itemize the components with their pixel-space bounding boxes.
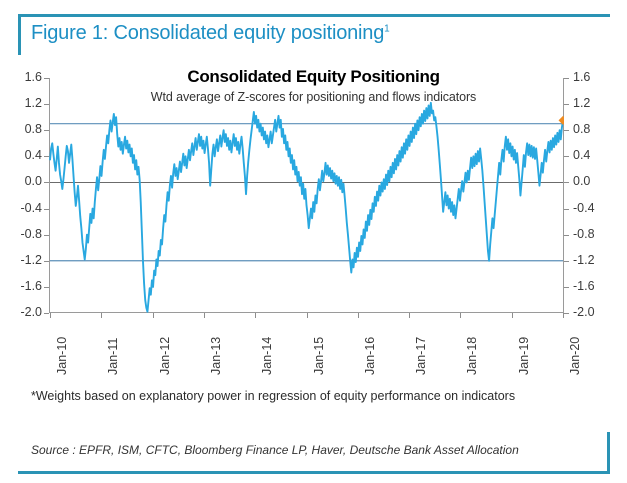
- x-tick-label: Jan-19: [517, 337, 531, 375]
- figure-title-superscript: 1: [384, 23, 389, 34]
- y-tick-mark: [44, 104, 49, 105]
- y-tick-mark: [44, 235, 49, 236]
- y-tick-mark: [564, 261, 569, 262]
- x-tick-label: Jan-17: [414, 337, 428, 375]
- panel-right-accent-bar: [607, 432, 610, 471]
- y-tick-mark: [564, 313, 569, 314]
- y-tick-mark: [44, 313, 49, 314]
- y-tick-mark: [564, 78, 569, 79]
- y-tick-label-left: -1.6: [8, 280, 42, 293]
- y-tick-label-left: -2.0: [8, 306, 42, 319]
- x-tick-label: Jan-13: [209, 337, 223, 375]
- x-tick-label: Jan-10: [55, 337, 69, 375]
- x-tick-mark: [101, 313, 102, 318]
- plot-area: [49, 78, 564, 313]
- y-tick-mark: [564, 287, 569, 288]
- y-tick-mark: [564, 130, 569, 131]
- x-tick-label: Jan-20: [568, 337, 582, 375]
- x-tick-mark: [460, 313, 461, 318]
- y-tick-label-left: 1.2: [8, 97, 42, 110]
- y-tick-mark: [564, 209, 569, 210]
- x-tick-mark: [358, 313, 359, 318]
- figure-panel: Figure 1: Consolidated equity positionin…: [0, 0, 627, 483]
- x-tick-mark: [563, 313, 564, 318]
- x-tick-label: Jan-14: [260, 337, 274, 375]
- panel-left-accent-bar: [18, 17, 21, 55]
- y-tick-label-right: 1.6: [573, 71, 590, 84]
- y-tick-label-right: 0.4: [573, 149, 590, 162]
- series-canvas: [49, 78, 564, 313]
- x-tick-mark: [255, 313, 256, 318]
- x-tick-mark: [409, 313, 410, 318]
- panel-bottom-rule: [18, 471, 610, 474]
- x-tick-label: Jan-16: [363, 337, 377, 375]
- x-tick-label: Jan-15: [312, 337, 326, 375]
- y-tick-label-right: -1.6: [573, 280, 595, 293]
- y-tick-label-left: -0.8: [8, 228, 42, 241]
- x-tick-mark: [512, 313, 513, 318]
- y-tick-label-right: -2.0: [573, 306, 595, 319]
- x-tick-mark: [50, 313, 51, 318]
- y-tick-label-left: -0.4: [8, 202, 42, 215]
- y-tick-mark: [44, 130, 49, 131]
- x-tick-label: Jan-18: [465, 337, 479, 375]
- y-tick-label-left: -1.2: [8, 254, 42, 267]
- y-tick-label-right: -1.2: [573, 254, 595, 267]
- y-tick-label-right: 1.2: [573, 97, 590, 110]
- footnote-text: *Weights based on explanatory power in r…: [31, 389, 515, 403]
- y-tick-mark: [564, 104, 569, 105]
- y-tick-label-left: 0.4: [8, 149, 42, 162]
- y-tick-mark: [44, 156, 49, 157]
- y-tick-label-right: 0.0: [573, 175, 590, 188]
- x-tick-mark: [153, 313, 154, 318]
- x-tick-label: Jan-12: [158, 337, 172, 375]
- y-tick-mark: [44, 182, 49, 183]
- figure-title-text: Figure 1: Consolidated equity positionin…: [31, 22, 384, 44]
- y-tick-mark: [564, 182, 569, 183]
- y-tick-label-left: 0.8: [8, 123, 42, 136]
- y-tick-label-right: 0.8: [573, 123, 590, 136]
- series-line: [50, 103, 563, 312]
- x-tick-label: Jan-11: [106, 338, 120, 375]
- y-tick-label-left: 0.0: [8, 175, 42, 188]
- x-tick-mark: [204, 313, 205, 318]
- y-tick-label-right: -0.4: [573, 202, 595, 215]
- figure-title: Figure 1: Consolidated equity positionin…: [31, 22, 390, 45]
- y-tick-mark: [564, 156, 569, 157]
- y-tick-mark: [564, 235, 569, 236]
- y-tick-label-left: 1.6: [8, 71, 42, 84]
- panel-top-rule: [18, 14, 610, 17]
- y-tick-mark: [44, 78, 49, 79]
- y-tick-mark: [44, 261, 49, 262]
- y-tick-mark: [44, 209, 49, 210]
- x-tick-mark: [307, 313, 308, 318]
- y-tick-label-right: -0.8: [573, 228, 595, 241]
- source-text: Source : EPFR, ISM, CFTC, Bloomberg Fina…: [31, 443, 519, 457]
- y-tick-mark: [44, 287, 49, 288]
